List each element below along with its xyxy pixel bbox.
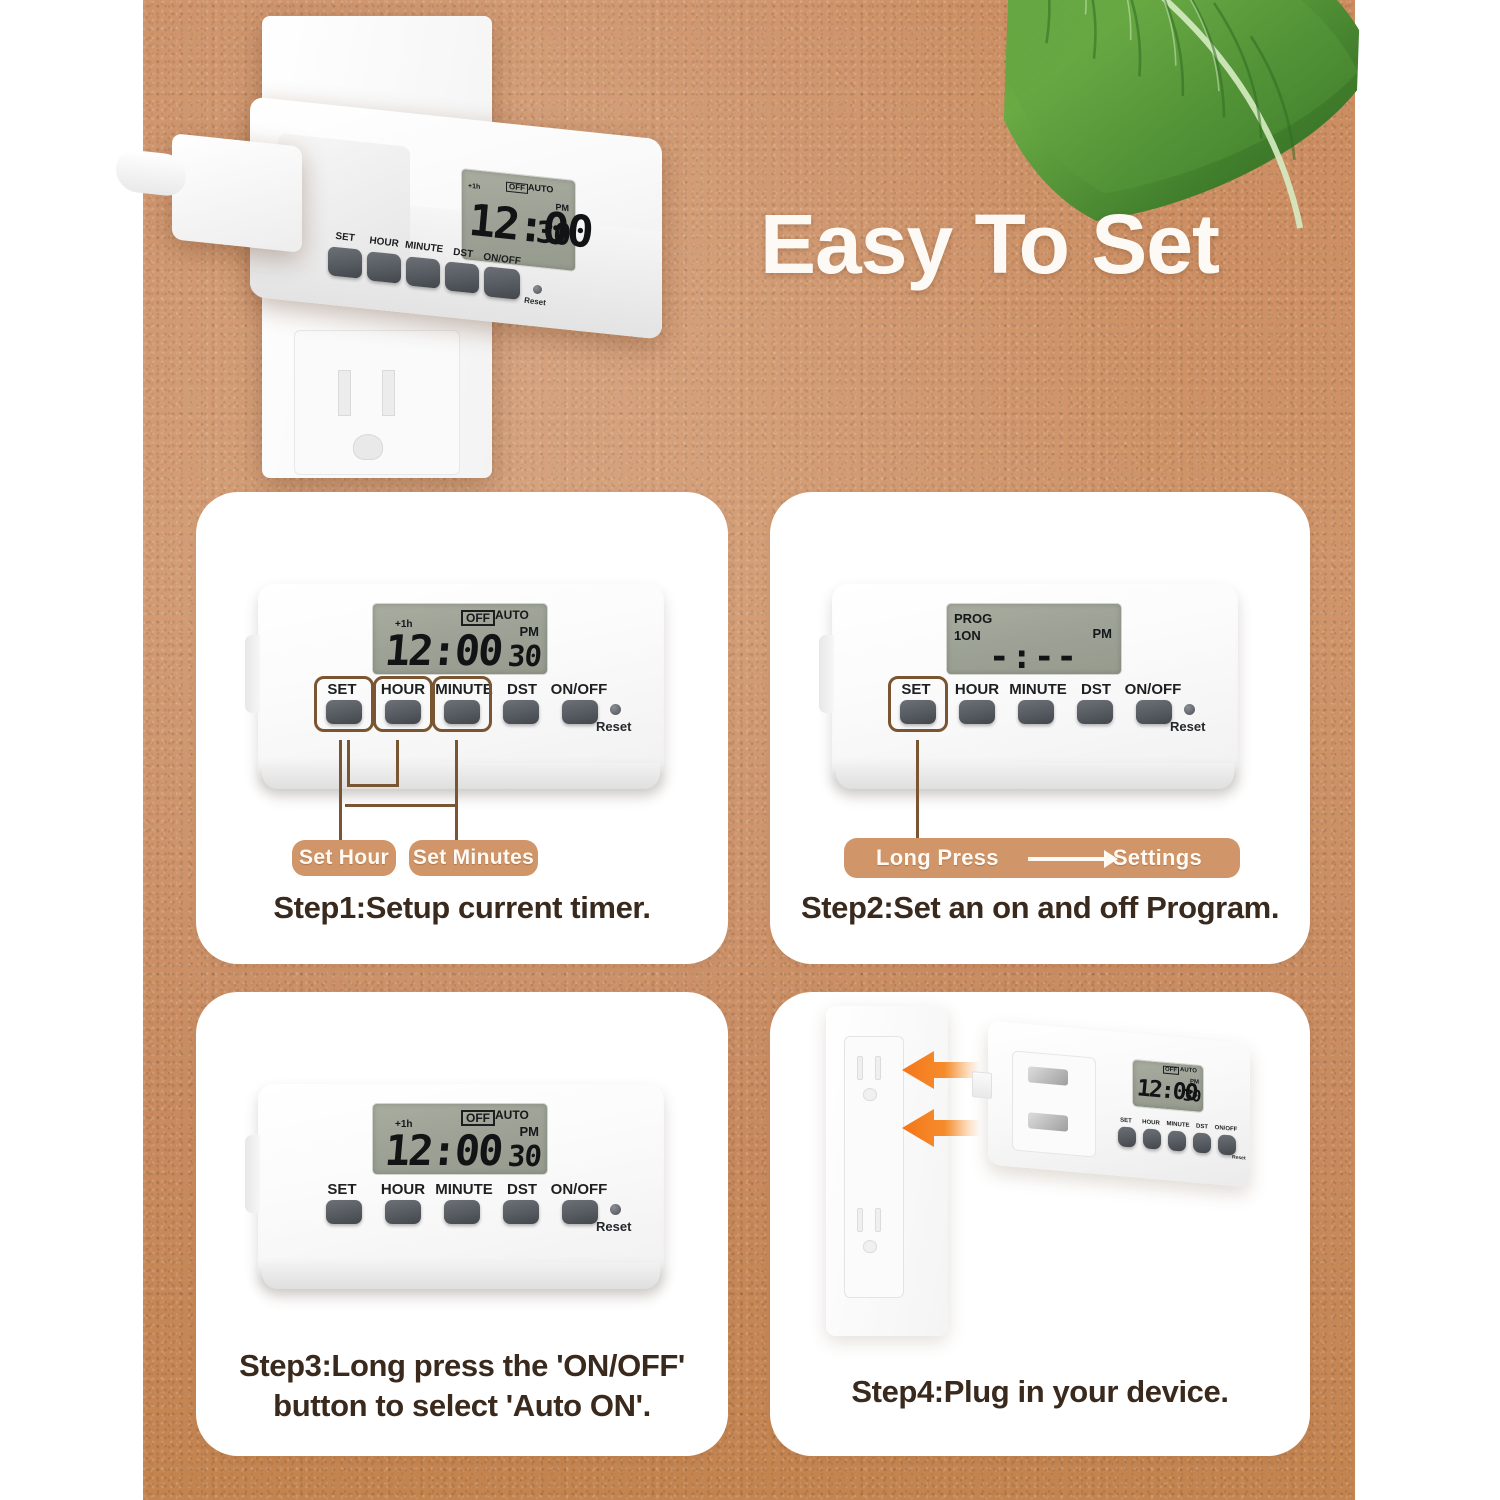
lcd-auto-indicator: AUTO [1180, 1067, 1197, 1074]
infographic-page: +1h OFF AUTO PM 12:00 30 SET HOUR MINUTE… [0, 0, 1500, 1500]
label-set: SET [316, 1182, 368, 1197]
lcd-pm-indicator: PM [520, 625, 540, 638]
button-dst[interactable] [445, 261, 479, 294]
pill-set-hour-label: Set Hour [299, 846, 389, 870]
lcd-pm-indicator: PM [520, 1125, 540, 1138]
step2-lcd-screen: PROG 1ON PM -:-- [946, 603, 1122, 675]
lcd-off-indicator: OFF [461, 1110, 495, 1126]
step4-card: OFF AUTO PM 12:00 30 SET HOUR MINUTE DST… [770, 992, 1310, 1456]
label-dst: DST [498, 682, 546, 697]
reset-button[interactable] [1184, 704, 1195, 715]
reset-button[interactable] [610, 1204, 621, 1215]
step4-device: OFF AUTO PM 12:00 30 SET HOUR MINUTE DST… [988, 1032, 1250, 1176]
button-minute[interactable] [444, 1200, 480, 1224]
device-side-tab [819, 635, 834, 713]
outlet-ground [353, 434, 383, 460]
lcd-auto-indicator: AUTO [495, 1109, 529, 1121]
lcd-seconds: 30 [507, 642, 542, 671]
outlet-slot-bottom-right [875, 1208, 881, 1232]
outlet-ground-top [863, 1088, 877, 1101]
plug-prong [972, 1071, 992, 1099]
reset-button[interactable] [533, 285, 542, 294]
step3-device: +1h OFF AUTO PM 12:00 30 SET HOUR MINUTE… [258, 1084, 664, 1280]
lcd-off-indicator: OFF [506, 182, 528, 194]
lcd-auto-indicator: AUTO [528, 183, 553, 195]
page-title: Easy To Set [760, 196, 1280, 292]
passthrough-slot-top [1028, 1066, 1068, 1085]
step4-lcd-screen: OFF AUTO PM 12:00 30 [1132, 1059, 1204, 1113]
outlet-slot-left [338, 370, 351, 416]
step2-device: PROG 1ON PM -:-- SET HOUR MINUTE DST ON/… [832, 584, 1238, 780]
button-hour[interactable] [385, 1200, 421, 1224]
device-passthrough-outlet [1012, 1050, 1096, 1157]
label-on-off: ON/OFF [546, 682, 612, 697]
lcd-seconds: 30 [1182, 1087, 1201, 1104]
step3-lcd-screen: +1h OFF AUTO PM 12:00 30 [372, 1103, 548, 1175]
reset-button[interactable] [610, 704, 621, 715]
pill-set-hour: Set Hour [292, 840, 396, 876]
button-on-off[interactable] [484, 266, 520, 300]
lcd-seconds: 30 [507, 1142, 542, 1171]
button-hour[interactable] [367, 251, 401, 284]
pill-set-minutes: Set Minutes [409, 840, 538, 876]
button-set[interactable] [1118, 1126, 1136, 1148]
right-arrow-icon [1028, 857, 1106, 861]
pill-long-press-label: Long Press [876, 845, 999, 871]
button-hour[interactable] [959, 700, 995, 724]
button-minute[interactable] [406, 256, 440, 289]
button-hour[interactable] [1143, 1128, 1161, 1150]
highlight-set-button [314, 676, 374, 732]
device-lip [836, 763, 1234, 789]
power-plug-icon [172, 133, 302, 253]
button-on-off[interactable] [562, 700, 598, 724]
outlet-slot-top-right [875, 1056, 881, 1080]
label-reset: Reset [1232, 1155, 1246, 1161]
button-on-off[interactable] [1136, 700, 1172, 724]
highlight-set-button [888, 676, 948, 732]
lcd-auto-indicator: AUTO [495, 609, 529, 621]
label-dst: DST [498, 1182, 546, 1197]
button-on-off[interactable] [562, 1200, 598, 1224]
lcd-empty-time: -:-- [989, 640, 1079, 674]
label-reset: Reset [1170, 720, 1205, 733]
device-side-tab [245, 635, 260, 713]
wall-plate-recess [844, 1036, 904, 1298]
lcd-off-indicator: OFF [461, 610, 495, 626]
label-on-off: ON/OFF [1120, 682, 1186, 697]
outlet-slot-bottom-left [857, 1208, 863, 1232]
lcd-prog-indicator: PROG [954, 612, 992, 625]
step4-caption: Step4:Plug in your device. [770, 1372, 1310, 1412]
hero-product-photo: +1h OFF AUTO PM 12:00 30 SET HOUR MINUTE… [150, 0, 710, 500]
step3-caption-line2: button to select 'Auto ON'. [196, 1386, 728, 1426]
label-minute: MINUTE [431, 1182, 497, 1197]
lcd-time: 12:00 [383, 630, 503, 672]
right-arrow-head-icon [1104, 850, 1118, 868]
step1-lcd-screen: +1h OFF AUTO PM 12:00 30 [372, 603, 548, 675]
insert-arrow-icon [900, 1050, 980, 1090]
button-minute[interactable] [1168, 1130, 1186, 1152]
button-set[interactable] [328, 246, 362, 279]
device-lip [262, 1263, 660, 1289]
step2-connector [916, 740, 919, 842]
device-lip [262, 763, 660, 789]
step1-card: +1h OFF AUTO PM 12:00 30 SET HOUR MINUTE… [196, 492, 728, 964]
step1-device: +1h OFF AUTO PM 12:00 30 SET HOUR MINUTE… [258, 584, 664, 780]
step2-caption: Step2:Set an on and off Program. [770, 888, 1310, 928]
lcd-seconds: 30 [535, 218, 572, 251]
label-hour: HOUR [948, 682, 1006, 697]
lcd-channel-indicator: 1ON [954, 629, 981, 642]
step3-card: +1h OFF AUTO PM 12:00 30 SET HOUR MINUTE… [196, 992, 728, 1456]
highlight-hour-button [373, 676, 433, 732]
lcd-time: 12:00 [467, 199, 593, 255]
button-dst[interactable] [503, 1200, 539, 1224]
label-hour: HOUR [374, 1182, 432, 1197]
outlet-slot-top-left [857, 1056, 863, 1080]
step3-caption-line1: Step3:Long press the 'ON/OFF' [196, 1346, 728, 1386]
label-on-off: ON/OFF [546, 1182, 612, 1197]
lcd-off-indicator: OFF [1163, 1066, 1179, 1075]
button-set[interactable] [326, 1200, 362, 1224]
button-minute[interactable] [1018, 700, 1054, 724]
passthrough-slot-bottom [1028, 1112, 1068, 1131]
device-side-tab [245, 1135, 260, 1213]
button-dst[interactable] [503, 700, 539, 724]
step1-caption: Step1:Setup current timer. [196, 888, 728, 928]
label-reset: Reset [596, 1220, 631, 1233]
step2-card: PROG 1ON PM -:-- SET HOUR MINUTE DST ON/… [770, 492, 1310, 964]
pill-settings-label: Settings [1113, 845, 1202, 871]
button-on-off[interactable] [1218, 1134, 1236, 1156]
pill-set-minutes-label: Set Minutes [413, 846, 534, 870]
label-reset: Reset [596, 720, 631, 733]
highlight-minute-button [432, 676, 492, 732]
outlet-slot-right [382, 370, 395, 416]
label-dst: DST [1072, 682, 1120, 697]
lcd-pm-indicator: PM [1093, 627, 1113, 640]
pill-long-press-settings: Long Press Settings [844, 838, 1240, 878]
insert-arrow-icon [900, 1108, 980, 1148]
outlet-ground-bottom [863, 1240, 877, 1253]
button-dst[interactable] [1077, 700, 1113, 724]
lcd-time: 12:00 [383, 1130, 503, 1172]
button-dst[interactable] [1193, 1132, 1211, 1154]
lcd-plus1h: +1h [468, 183, 480, 191]
label-minute: MINUTE [1005, 682, 1071, 697]
